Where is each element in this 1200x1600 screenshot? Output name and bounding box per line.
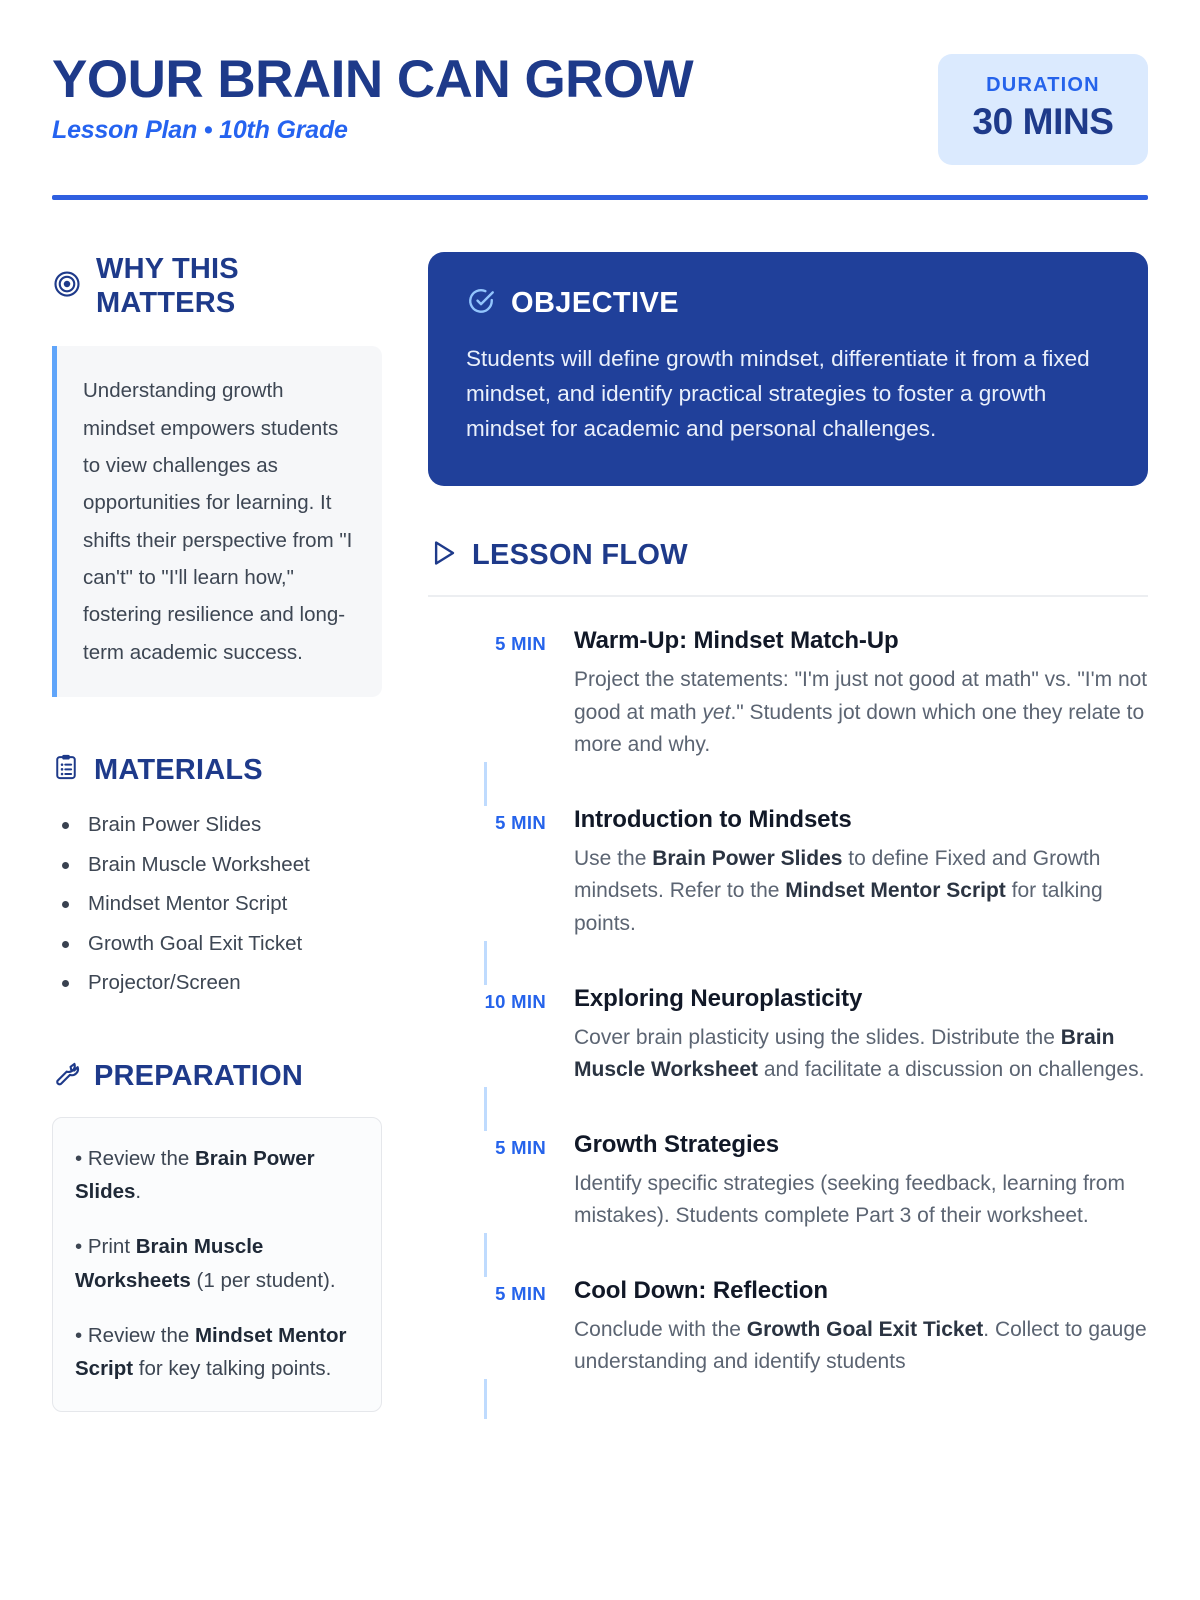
timeline-step-time: 10 MIN (428, 985, 546, 1087)
objective-header: OBJECTIVE (466, 286, 1110, 321)
materials-header: MATERIALS (52, 753, 382, 787)
timeline-step: 5 MINGrowth StrategiesIdentify specific … (428, 1131, 1148, 1233)
spacer (52, 1003, 382, 1059)
timeline-step-description: Identify specific strategies (seeking fe… (574, 1168, 1148, 1233)
body-grid: WHY THIS MATTERS Understanding growth mi… (52, 200, 1148, 1412)
timeline-step: 10 MINExploring NeuroplasticityCover bra… (428, 985, 1148, 1087)
timeline-step: 5 MINCool Down: ReflectionConclude with … (428, 1277, 1148, 1379)
timeline-step-body: Cool Down: ReflectionConclude with the G… (560, 1277, 1148, 1379)
timeline-step-description: Project the statements: "I'm just not go… (574, 664, 1148, 762)
timeline-step-body: Exploring NeuroplasticityCover brain pla… (560, 985, 1148, 1087)
list-item: Projector/Screen (52, 963, 382, 1003)
why-this-matters-title: WHY THIS MATTERS (96, 252, 382, 320)
wrench-icon (52, 1059, 80, 1092)
why-this-matters-header: WHY THIS MATTERS (52, 252, 382, 320)
timeline-step-name: Warm-Up: Mindset Match-Up (574, 627, 1148, 655)
timeline-step-body: Warm-Up: Mindset Match-UpProject the sta… (560, 627, 1148, 762)
timeline-step-name: Introduction to Mindsets (574, 806, 1148, 834)
objective-title: OBJECTIVE (511, 287, 679, 320)
preparation-title: PREPARATION (94, 1059, 303, 1093)
timeline-step-time: 5 MIN (428, 806, 546, 941)
materials-list: Brain Power SlidesBrain Muscle Worksheet… (52, 805, 382, 1003)
timeline-step: 5 MINIntroduction to MindsetsUse the Bra… (428, 806, 1148, 941)
timeline-step-name: Exploring Neuroplasticity (574, 985, 1148, 1013)
timeline-step-time: 5 MIN (428, 1131, 546, 1233)
document-header: YOUR BRAIN CAN GROW Lesson Plan • 10th G… (52, 0, 1148, 165)
list-item: • Review the Mindset Mentor Script for k… (75, 1319, 359, 1385)
header-title-block: YOUR BRAIN CAN GROW Lesson Plan • 10th G… (52, 48, 693, 145)
page-subtitle: Lesson Plan • 10th Grade (52, 116, 693, 145)
timeline-step: 5 MINWarm-Up: Mindset Match-UpProject th… (428, 627, 1148, 762)
timeline-step-description: Use the Brain Power Slides to define Fix… (574, 843, 1148, 941)
play-triangle-icon (428, 538, 458, 573)
list-item: Brain Power Slides (52, 805, 382, 845)
spacer (52, 697, 382, 753)
lesson-timeline: 5 MINWarm-Up: Mindset Match-UpProject th… (428, 597, 1148, 1379)
timeline-step-time: 5 MIN (428, 1277, 546, 1379)
list-item: • Review the Brain Power Slides. (75, 1142, 359, 1208)
timeline-step-body: Growth StrategiesIdentify specific strat… (560, 1131, 1148, 1233)
objective-text: Students will define growth mindset, dif… (466, 341, 1110, 446)
clipboard-icon (52, 753, 80, 786)
page-title: YOUR BRAIN CAN GROW (52, 52, 693, 107)
timeline-step-name: Cool Down: Reflection (574, 1277, 1148, 1305)
list-item: Brain Muscle Worksheet (52, 845, 382, 885)
list-item: Mindset Mentor Script (52, 884, 382, 924)
why-this-matters-box: Understanding growth mindset empowers st… (52, 346, 382, 696)
timeline-step-time: 5 MIN (428, 627, 546, 762)
materials-title: MATERIALS (94, 753, 263, 787)
timeline-step-description: Cover brain plasticity using the slides.… (574, 1022, 1148, 1087)
list-item: Growth Goal Exit Ticket (52, 924, 382, 964)
list-item: • Print Brain Muscle Worksheets (1 per s… (75, 1230, 359, 1296)
lesson-plan-page: YOUR BRAIN CAN GROW Lesson Plan • 10th G… (0, 0, 1200, 1600)
preparation-box: • Review the Brain Power Slides.• Print … (52, 1117, 382, 1412)
why-this-matters-text: Understanding growth mindset empowers st… (83, 372, 360, 670)
sidebar-column: WHY THIS MATTERS Understanding growth mi… (52, 252, 382, 1412)
check-circle-icon (466, 286, 496, 321)
timeline-step-body: Introduction to MindsetsUse the Brain Po… (560, 806, 1148, 941)
duration-label: DURATION (966, 74, 1120, 97)
lesson-flow-header: LESSON FLOW (428, 538, 1148, 573)
lesson-flow-title: LESSON FLOW (472, 539, 688, 572)
timeline-step-name: Growth Strategies (574, 1131, 1148, 1159)
timeline-step-description: Conclude with the Growth Goal Exit Ticke… (574, 1314, 1148, 1379)
duration-value: 30 MINS (966, 101, 1120, 143)
target-icon (52, 269, 82, 304)
main-column: OBJECTIVE Students will define growth mi… (428, 252, 1148, 1412)
objective-card: OBJECTIVE Students will define growth mi… (428, 252, 1148, 486)
duration-badge: DURATION 30 MINS (938, 54, 1148, 165)
preparation-header: PREPARATION (52, 1059, 382, 1093)
